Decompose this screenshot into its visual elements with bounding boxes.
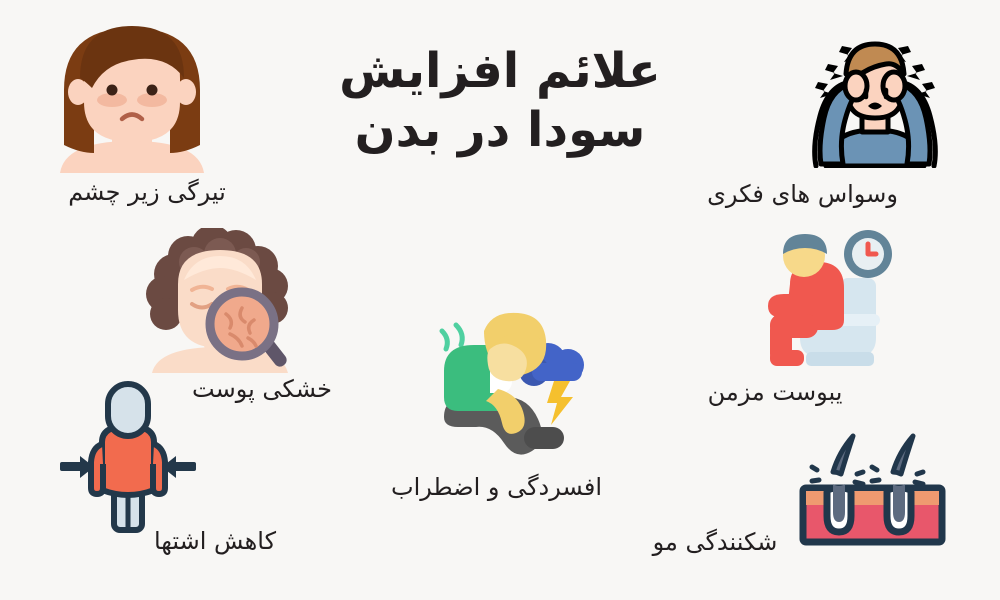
- face-with-magnifier-icon: [138, 228, 303, 373]
- tired-woman-face-icon: [42, 18, 222, 173]
- symptom-label-dry-skin: خشکی پوست: [182, 375, 342, 403]
- person-on-toilet-with-clock-icon: [748, 222, 913, 372]
- symptom-label-decreased-appetite: کاهش اشتها: [140, 527, 290, 555]
- symptom-label-constipation: یبوست مزمن: [700, 378, 850, 406]
- infographic-poster: علائم افزایش سودا در بدن: [0, 0, 1000, 600]
- broken-hair-follicles-icon: [795, 432, 950, 547]
- page-title: علائم افزایش سودا در بدن: [300, 42, 700, 159]
- symptom-label-obsessive-thoughts: وسواس های فکری: [700, 180, 905, 208]
- symptom-label-hair-brittleness: شکنندگی مو: [650, 528, 780, 556]
- symptom-label-depression-anxiety: افسردگی و اضطراب: [392, 473, 602, 501]
- person-with-inward-arrows-icon: [58, 378, 198, 533]
- sad-person-with-storm-cloud-icon: [428, 305, 588, 460]
- page-title-line-2: سودا در بدن: [300, 101, 700, 160]
- stressed-man-holding-head-icon: [800, 28, 950, 168]
- page-title-line-1: علائم افزایش: [300, 42, 700, 101]
- symptom-label-dark-circles: تیرگی زیر چشم: [52, 178, 242, 206]
